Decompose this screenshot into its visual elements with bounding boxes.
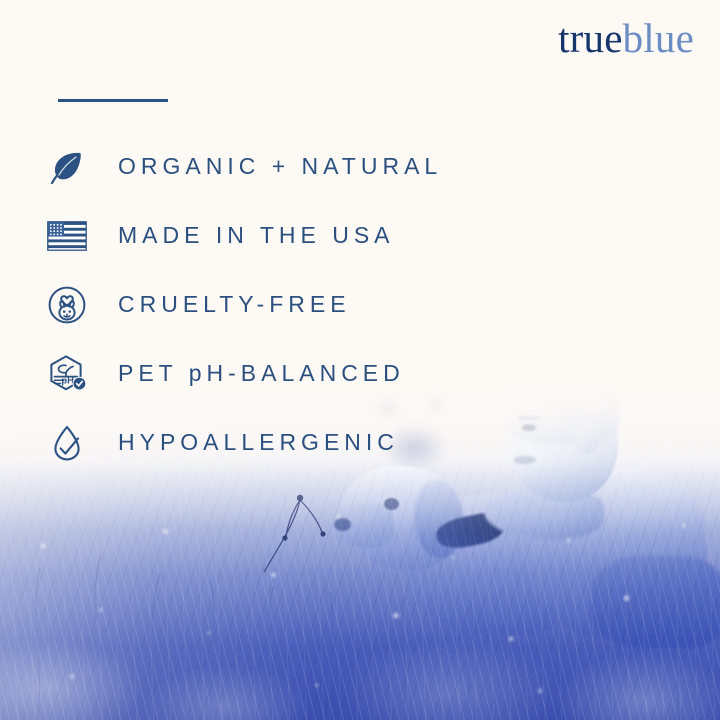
ph-balanced-badge-icon: pH — [44, 351, 90, 397]
feature-label-cruelty-free: CRUELTY-FREE — [118, 291, 351, 318]
leaf-icon — [44, 144, 90, 190]
feature-item-ph-balanced: pH PET pH-BALANCED — [44, 339, 664, 408]
water-drop-check-icon — [44, 420, 90, 466]
rabbit-cruelty-free-icon — [44, 282, 90, 328]
feature-label-made-in-usa: MADE IN THE USA — [118, 222, 395, 249]
feature-label-ph-balanced: PET pH-BALANCED — [118, 360, 405, 387]
feature-list: ORGANIC + NATURAL — [44, 132, 664, 477]
promo-graphic: trueblue ORGANIC + NATURAL — [0, 0, 720, 720]
feature-item-hypoallergenic: HYPOALLERGENIC — [44, 408, 664, 477]
feature-label-organic-natural: ORGANIC + NATURAL — [118, 153, 442, 180]
usa-flag-icon — [44, 213, 90, 259]
feature-item-organic-natural: ORGANIC + NATURAL — [44, 132, 664, 201]
content-layer: trueblue ORGANIC + NATURAL — [0, 0, 720, 720]
brand-logo[interactable]: trueblue — [558, 18, 694, 59]
feature-item-made-in-usa: MADE IN THE USA — [44, 201, 664, 270]
feature-item-cruelty-free: CRUELTY-FREE — [44, 270, 664, 339]
svg-text:pH: pH — [61, 374, 74, 385]
logo-word-blue: blue — [623, 15, 694, 61]
logo-word-true: true — [558, 15, 623, 61]
feature-label-hypoallergenic: HYPOALLERGENIC — [118, 429, 399, 456]
section-divider-rule — [58, 99, 168, 102]
